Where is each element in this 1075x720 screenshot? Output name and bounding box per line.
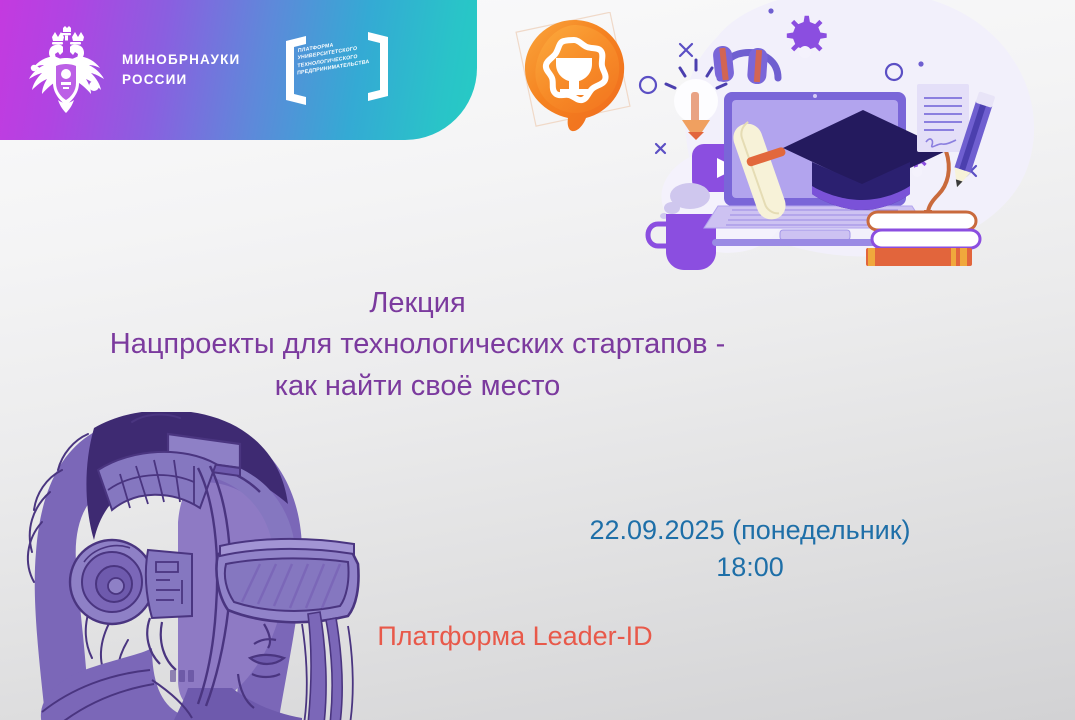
event-datetime: 22.09.2025 (понедельник) 18:00 — [300, 512, 1075, 587]
orange-star-cup-logo-icon — [512, 12, 636, 140]
lecture-title: Лекция Нацпроекты для технологических ст… — [0, 283, 835, 407]
event-place: Платформа Leader-ID — [120, 619, 910, 654]
header-banner: МИНОБРНАУКИ РОССИИ ПЛАТФОРМА УНИВЕРСИТЕТ… — [0, 0, 477, 140]
header-banner-content: МИНОБРНАУКИ РОССИИ ПЛАТФОРМА УНИВЕРСИТЕТ… — [0, 0, 477, 140]
ministry-label: МИНОБРНАУКИ РОССИИ — [122, 50, 240, 91]
online-education-illustration — [628, 0, 1075, 278]
coat-of-arms-icon — [24, 26, 108, 114]
platform-logo: ПЛАТФОРМА УНИВЕРСИТЕТСКОГО ТЕХНОЛОГИЧЕСК… — [276, 30, 396, 110]
lecture-announcement-poster: МИНОБРНАУКИ РОССИИ ПЛАТФОРМА УНИВЕРСИТЕТ… — [0, 0, 1075, 720]
